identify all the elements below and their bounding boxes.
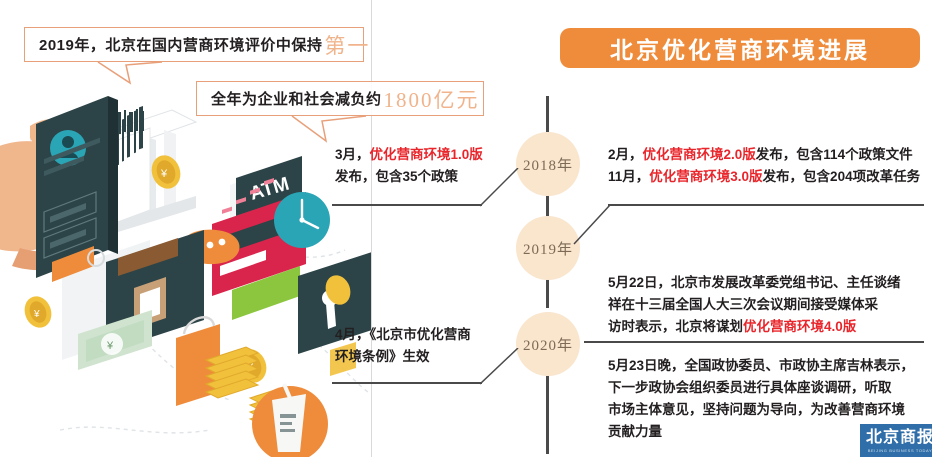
timeline-year-label: 2019年 xyxy=(523,238,573,259)
timeline-stem-1 xyxy=(546,196,549,216)
entry-line: 下一步政协会组织委员进行具体座谈调研，听取 xyxy=(608,377,932,399)
entry-line: 11月，优化营商环境3.0版发布，包含204项改革任务 xyxy=(608,166,928,188)
entry-2020-left: 4月，《北京市优化营商 环境条例》生效 xyxy=(335,324,515,368)
entry-text: 11月， xyxy=(608,169,649,184)
callout-rank-highlight: 第一 xyxy=(324,30,370,60)
entry-line: 5月23日晚，全国政协委员、市政协主席吉林表示， xyxy=(608,355,932,377)
entry-line: 环境条例》生效 xyxy=(335,346,515,368)
newspaper-logo: 北京商报 BEIJING BUSINESS TODAY xyxy=(860,424,932,457)
entry-text: 访时表示，北京将谋划 xyxy=(608,319,743,334)
callout-relief-text: 全年为企业和社会减负约 xyxy=(211,88,382,109)
entry-line: 市场主体意见，坚持问题为导向，为改善营商环境 xyxy=(608,399,932,421)
callout-rank-text: 2019年，北京在国内营商环境评价中保持 xyxy=(39,34,322,55)
entry-2019-right-separator xyxy=(584,341,924,343)
vertical-divider xyxy=(371,0,372,457)
timeline-year-label: 2018年 xyxy=(523,154,573,175)
entry-line: 3月，优化营商环境1.0版 xyxy=(335,144,510,166)
entry-2018-right: 2月，优化营商环境2.0版发布，包含114个政策文件 11月，优化营商环境3.0… xyxy=(608,144,928,188)
timeline-circle-2018[interactable]: 2018年 xyxy=(516,132,580,196)
entry-text: 市场主体意见，坚持问题为导向，为改善营商环境 xyxy=(608,402,905,417)
timeline-circle-2019[interactable]: 2019年 xyxy=(516,216,580,280)
timeline-stem-top xyxy=(546,96,549,132)
newspaper-logo-en: BEIJING BUSINESS TODAY xyxy=(868,448,932,453)
timeline-circle-2020[interactable]: 2020年 xyxy=(516,312,580,376)
entry-text: 5月22日，北京市发展改革委党组书记、主任谈绪 xyxy=(608,275,901,290)
infographic-root: ATM xyxy=(0,0,932,457)
timeline-stem-bottom xyxy=(546,376,549,454)
entry-2018-left-separator xyxy=(332,204,482,206)
entry-line: 祥在十三届全国人大三次会议期间接受媒体采 xyxy=(608,294,928,316)
entry-text: 祥在十三届全国人大三次会议期间接受媒体采 xyxy=(608,297,878,312)
svg-text:¥: ¥ xyxy=(160,168,168,180)
entry-text-highlight: 优化营商环境1.0版 xyxy=(370,147,483,162)
timeline-stem-2 xyxy=(546,280,549,308)
entry-line: 访时表示，北京将谋划优化营商环境4.0版 xyxy=(608,316,928,338)
entry-text: 3月， xyxy=(335,147,370,162)
timeline-year-label: 2020年 xyxy=(523,334,573,355)
callout-relief-box: 全年为企业和社会减负约1800亿元 xyxy=(196,81,484,116)
entry-text: 发布，包含204项改革任务 xyxy=(763,169,921,184)
entry-text: 贡献力量 xyxy=(608,424,662,439)
entry-text-highlight: 优化营商环境3.0版 xyxy=(649,169,762,184)
entry-line: 2月，优化营商环境2.0版发布，包含114个政策文件 xyxy=(608,144,928,166)
svg-text:¥: ¥ xyxy=(33,309,40,320)
entry-text: 5月23日晚，全国政协委员、市政协主席吉林表示， xyxy=(608,358,914,373)
entry-line: 5月22日，北京市发展改革委党组书记、主任谈绪 xyxy=(608,272,928,294)
fintech-illustration: ATM xyxy=(0,0,372,457)
entry-line: 发布，包含35个政策 xyxy=(335,166,510,188)
entry-text-highlight: 优化营商环境4.0版 xyxy=(743,319,856,334)
entry-2020-left-separator xyxy=(332,382,482,384)
entry-2018-left: 3月，优化营商环境1.0版 发布，包含35个政策 xyxy=(335,144,510,188)
title-banner: 北京优化营商环境进展 xyxy=(560,28,920,68)
newspaper-logo-cn: 北京商报 xyxy=(866,430,932,446)
entry-text: 下一步政协会组织委员进行具体座谈调研，听取 xyxy=(608,380,892,395)
svg-text:¥: ¥ xyxy=(106,340,114,352)
callout-relief-highlight: 1800亿元 xyxy=(384,84,480,114)
entry-text: 2月， xyxy=(608,147,643,162)
entry-text: 发布，包含35个政策 xyxy=(335,169,458,184)
entry-line: 4月，《北京市优化营商 xyxy=(335,324,515,346)
entry-2018-right-separator xyxy=(608,204,924,206)
banner-title: 北京优化营商环境进展 xyxy=(610,31,870,65)
entry-text: 环境条例》生效 xyxy=(335,349,430,364)
entry-text: 发布，包含114个政策文件 xyxy=(756,147,913,162)
entry-text: 4月，《北京市优化营商 xyxy=(335,327,471,342)
entry-2019-right: 5月22日，北京市发展改革委党组书记、主任谈绪 祥在十三届全国人大三次会议期间接… xyxy=(608,272,928,338)
entry-text-highlight: 优化营商环境2.0版 xyxy=(643,147,756,162)
callout-rank-box: 2019年，北京在国内营商环境评价中保持第一 xyxy=(24,27,364,62)
